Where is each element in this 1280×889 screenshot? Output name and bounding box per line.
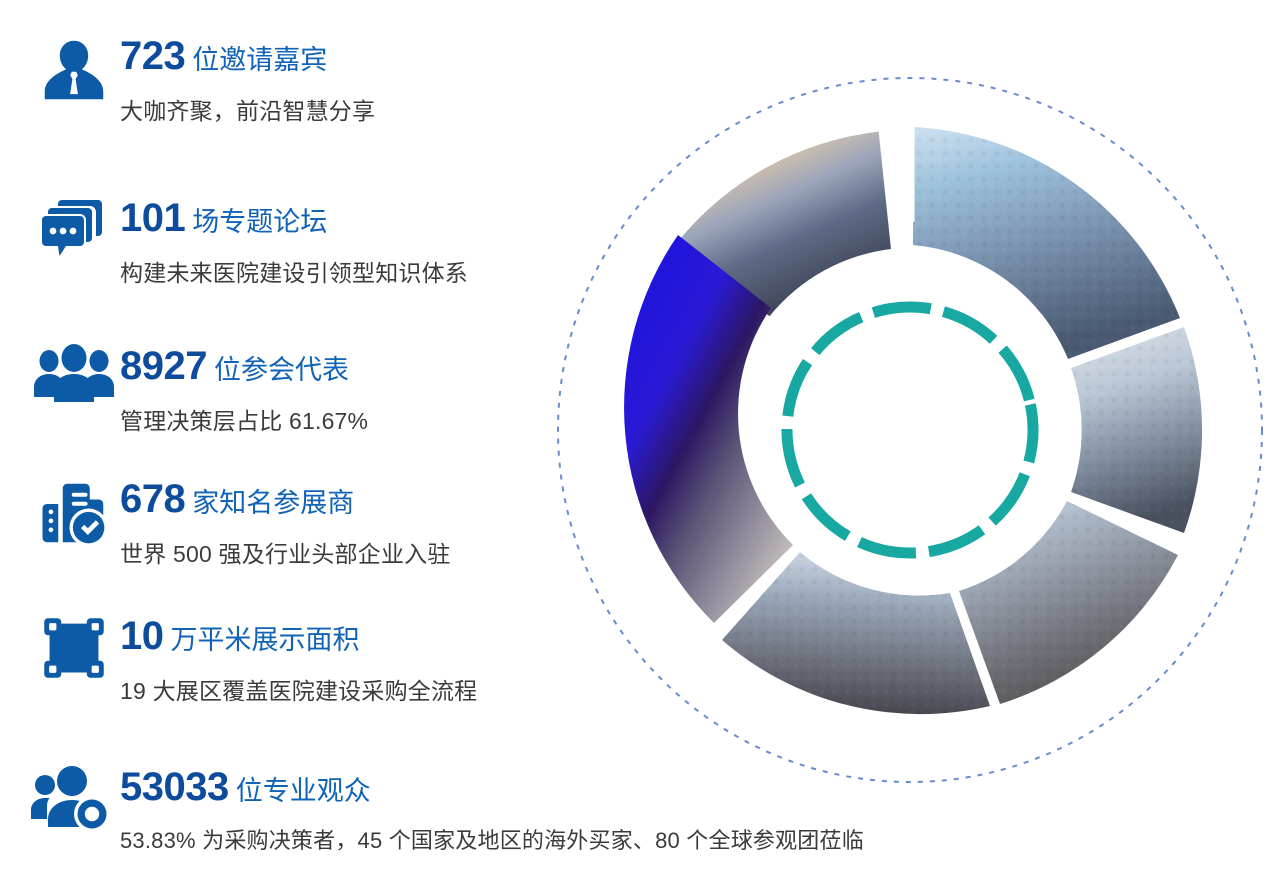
stat-unit: 家知名参展商 bbox=[192, 488, 354, 518]
stat-text-block: 10万平米展示面积 19 大展区覆盖医院建设采购全流程 bbox=[120, 614, 477, 706]
stat-text-block: 723位邀请嘉宾 大咖齐聚，前沿智慧分享 bbox=[120, 34, 375, 126]
stat-item-invited-guests: 723位邀请嘉宾 大咖齐聚，前沿智慧分享 bbox=[28, 34, 375, 126]
infographic-page: 723位邀请嘉宾 大咖齐聚，前沿智慧分享 101场专题论坛 bbox=[0, 0, 1280, 889]
stat-subtitle: 构建未来医院建设引领型知识体系 bbox=[120, 254, 468, 288]
area-square-icon bbox=[28, 614, 120, 682]
stat-unit: 万平米展示面积 bbox=[171, 625, 360, 655]
stat-number: 723 bbox=[120, 34, 185, 78]
stat-subtitle: 管理决策层占比 61.67% bbox=[120, 402, 368, 436]
stat-number: 678 bbox=[120, 477, 185, 521]
stat-subtitle: 19 大展区覆盖医院建设采购全流程 bbox=[120, 672, 477, 706]
visitors-icon bbox=[20, 765, 120, 835]
stat-item-delegates: 8927位参会代表 管理决策层占比 61.67% bbox=[28, 344, 368, 436]
stat-subtitle: 大咖齐聚，前沿智慧分享 bbox=[120, 92, 375, 126]
stat-number: 53033 bbox=[120, 765, 229, 809]
stat-item-exhibitors: 678家知名参展商 世界 500 强及行业头部企业入驻 bbox=[28, 477, 451, 569]
stat-subtitle: 世界 500 强及行业头部企业入驻 bbox=[120, 535, 451, 569]
stat-unit: 位专业观众 bbox=[236, 776, 371, 806]
stat-text-block: 101场专题论坛 构建未来医院建设引领型知识体系 bbox=[120, 196, 468, 288]
stat-subtitle: 53.83% 为采购决策者，45 个国家及地区的海外买家、80 个全球参观团莅临 bbox=[120, 823, 864, 855]
factory-check-icon bbox=[28, 477, 120, 549]
stat-number: 8927 bbox=[120, 344, 207, 388]
people-group-icon bbox=[28, 344, 120, 406]
event-photo-wheel bbox=[552, 72, 1268, 788]
stat-text-block: 8927位参会代表 管理决策层占比 61.67% bbox=[120, 344, 368, 436]
stat-headline: 723位邀请嘉宾 bbox=[120, 36, 375, 76]
stat-unit: 位参会代表 bbox=[214, 355, 349, 385]
stat-unit: 位邀请嘉宾 bbox=[192, 45, 327, 75]
stat-headline: 8927位参会代表 bbox=[120, 346, 368, 386]
stat-text-block: 678家知名参展商 世界 500 强及行业头部企业入驻 bbox=[120, 477, 451, 569]
person-suit-icon bbox=[28, 34, 120, 106]
stat-headline: 10万平米展示面积 bbox=[120, 616, 477, 656]
chat-bubble-icon bbox=[28, 196, 120, 260]
stat-number: 10 bbox=[120, 614, 164, 658]
stat-number: 101 bbox=[120, 196, 185, 240]
stat-headline: 678家知名参展商 bbox=[120, 479, 451, 519]
stat-headline: 101场专题论坛 bbox=[120, 198, 468, 238]
stat-item-forums: 101场专题论坛 构建未来医院建设引领型知识体系 bbox=[28, 196, 468, 288]
stat-unit: 场专题论坛 bbox=[192, 207, 327, 237]
stat-item-exhibition-area: 10万平米展示面积 19 大展区覆盖医院建设采购全流程 bbox=[28, 614, 477, 706]
